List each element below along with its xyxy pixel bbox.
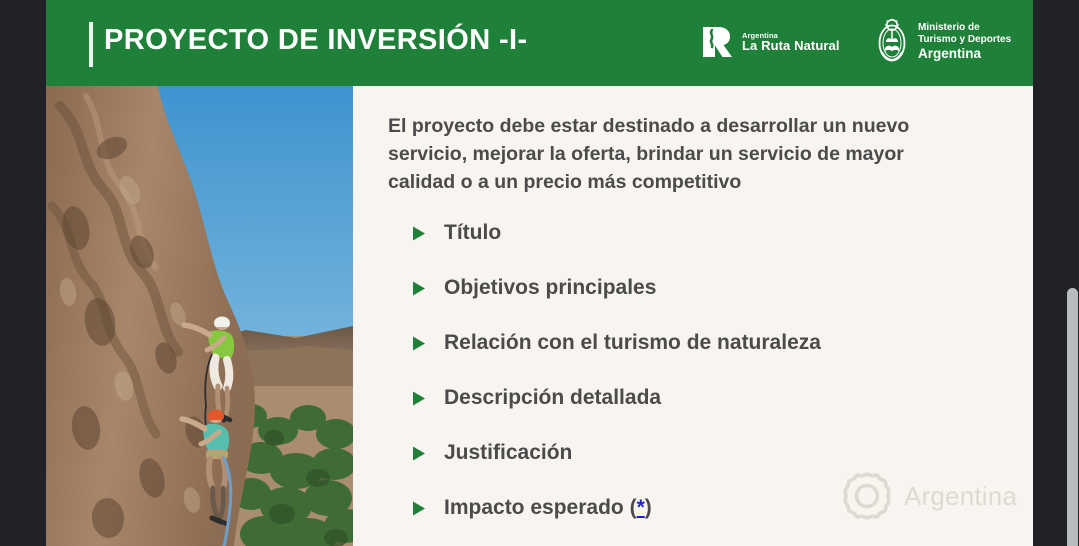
- bullet-label-relacion: Relación con el turismo de naturaleza: [444, 332, 821, 354]
- list-item: Objetivos principales: [412, 277, 1012, 332]
- ministerio-line3: Argentina: [918, 46, 1011, 62]
- slide-viewer: PROYECTO DE INVERSIÓN -I- Argentina La R…: [0, 0, 1079, 546]
- ruta-natural-line2: La Ruta Natural: [742, 39, 840, 52]
- ministerio-logo: Ministerio de Turismo y Deportes Argenti…: [874, 18, 1011, 66]
- r-road-logo-icon: [701, 25, 735, 59]
- triangle-right-icon: [412, 446, 426, 461]
- vertical-scrollbar-thumb[interactable]: [1067, 288, 1078, 546]
- bullet-label-justificacion: Justificación: [444, 442, 572, 464]
- triangle-right-icon: [412, 336, 426, 351]
- ruta-natural-logo-text: Argentina La Ruta Natural: [742, 32, 840, 53]
- vertical-scrollbar-track[interactable]: [1066, 0, 1079, 546]
- paren-open-char: (: [630, 496, 637, 519]
- lead-paragraph: El proyecto debe estar destinado a desar…: [388, 112, 944, 196]
- climbing-photo: [46, 86, 353, 546]
- page-title: PROYECTO DE INVERSIÓN -I-: [104, 24, 528, 57]
- ministerio-logo-text: Ministerio de Turismo y Deportes Argenti…: [918, 22, 1011, 62]
- bullet-label-objetivos: Objetivos principales: [444, 277, 656, 299]
- presentation-slide: PROYECTO DE INVERSIÓN -I- Argentina La R…: [46, 0, 1033, 546]
- ruta-natural-logo: Argentina La Ruta Natural: [701, 25, 840, 59]
- list-item: Descripción detallada: [412, 387, 1012, 442]
- list-item: Relación con el turismo de naturaleza: [412, 332, 1012, 387]
- argentina-sun-ring-icon: [841, 470, 893, 522]
- title-accent-rule: [89, 22, 93, 67]
- triangle-right-icon: [412, 281, 426, 296]
- argentina-watermark: Argentina: [841, 470, 1017, 522]
- bullet-impacto-text: Impacto esperado: [444, 496, 624, 519]
- ministerio-line1: Ministerio de: [918, 22, 1011, 34]
- paren-close-char: ): [645, 496, 652, 519]
- ministerio-line2: Turismo y Deportes: [918, 34, 1011, 46]
- footnote-asterisk-link[interactable]: *: [637, 496, 645, 519]
- triangle-right-icon: [412, 226, 426, 241]
- list-item: Título: [412, 222, 1012, 277]
- slide-header: PROYECTO DE INVERSIÓN -I- Argentina La R…: [46, 0, 1033, 86]
- bullet-label-titulo: Título: [444, 222, 501, 244]
- argentina-coat-of-arms-icon: [874, 18, 910, 66]
- triangle-right-icon: [412, 501, 426, 516]
- triangle-right-icon: [412, 391, 426, 406]
- bullet-label-impacto: Impacto esperado (*): [444, 497, 652, 519]
- bullet-label-descripcion: Descripción detallada: [444, 387, 661, 409]
- argentina-watermark-label: Argentina: [904, 481, 1017, 512]
